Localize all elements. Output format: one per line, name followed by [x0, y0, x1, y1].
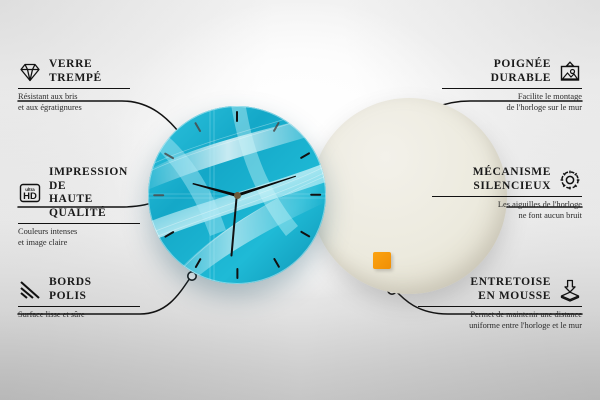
feature-description: Surface lisse et sûre: [18, 310, 140, 320]
feature-title: BORDS POLIS: [49, 276, 92, 303]
feature-description: Couleurs intenses et image claire: [18, 227, 140, 248]
feature-description: Facilite le montage de l'horloge sur le …: [442, 92, 582, 113]
feature-divider: [18, 223, 140, 224]
feature-divider: [18, 306, 140, 307]
feature-title: IMPRESSION DE HAUTE QUALITÉ: [49, 166, 140, 220]
feature-impression-haute-qualite: ultra HD IMPRESSION DE HAUTE QUALITÉ Cou…: [18, 166, 140, 248]
foam-spacer-icon: [558, 278, 582, 302]
clock-tick-9: [153, 194, 164, 196]
gear-icon: [558, 168, 582, 192]
feature-entretoise-en-mousse: ENTRETOISE EN MOUSSE Permet de maintenir…: [418, 276, 582, 331]
feature-divider: [418, 306, 582, 307]
feature-description: Résistant aux bris et aux égratignures: [18, 92, 130, 113]
feature-title: MÉCANISME SILENCIEUX: [473, 166, 551, 193]
clock-tick-6: [236, 268, 238, 279]
ultra-hd-large-label: HD: [23, 191, 37, 202]
feature-divider: [442, 88, 582, 89]
feature-description: Permet de maintenir une distance uniform…: [418, 310, 582, 331]
diamond-icon: [18, 60, 42, 84]
clock-front-face: [148, 106, 326, 284]
feature-description: Les aiguilles de l'horloge ne font aucun…: [432, 200, 582, 221]
polished-edges-icon: [18, 278, 42, 302]
foam-spacer: [373, 252, 391, 269]
feature-divider: [432, 196, 582, 197]
infographic-canvas: VERRE TREMPÉ Résistant aux bris et aux é…: [0, 0, 600, 400]
feature-title: VERRE TREMPÉ: [49, 58, 102, 85]
feature-poignee-durable: POIGNÉE DURABLE Facilite le montage de l…: [442, 58, 582, 113]
feature-title: ENTRETOISE EN MOUSSE: [470, 276, 551, 303]
feature-mecanisme-silencieux: MÉCANISME SILENCIEUX Les aiguilles de l'…: [432, 166, 582, 221]
feature-bords-polis: BORDS POLIS Surface lisse et sûre: [18, 276, 140, 321]
clock-center-cap: [234, 192, 241, 199]
feature-title: POIGNÉE DURABLE: [491, 58, 551, 85]
picture-hanger-icon: [558, 60, 582, 84]
ultra-hd-icon: ultra HD: [18, 181, 42, 205]
feature-verre-trempe: VERRE TREMPÉ Résistant aux bris et aux é…: [18, 58, 130, 113]
feature-divider: [18, 88, 130, 89]
